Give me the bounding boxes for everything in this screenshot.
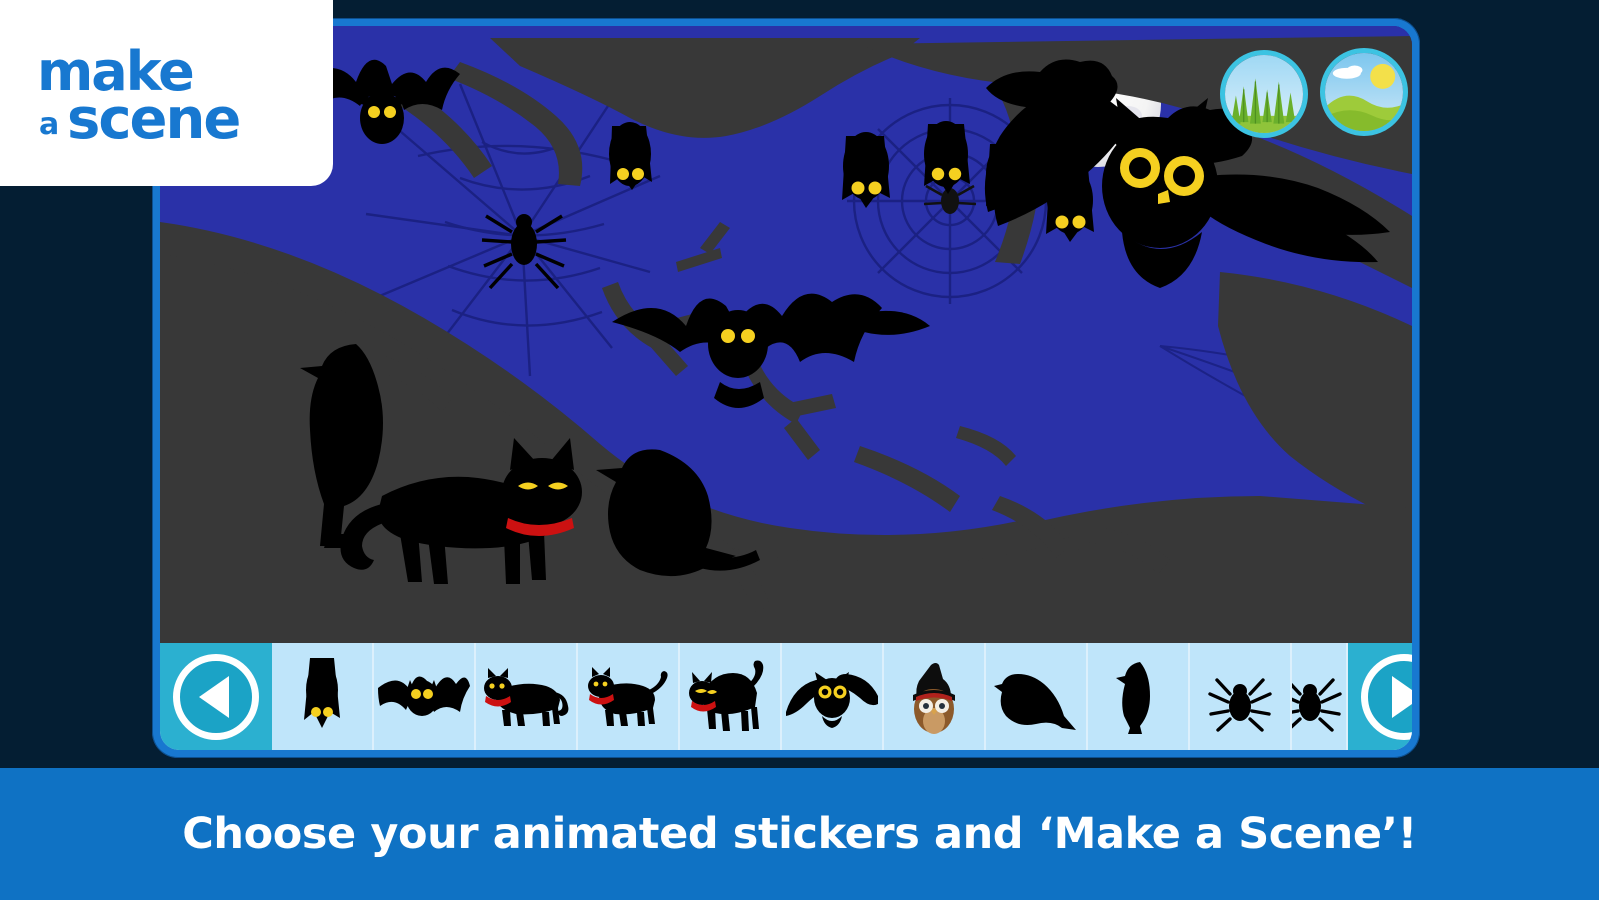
app-root: make a scene Choose your animated sticke…: [0, 0, 1599, 900]
svg-text:scene: scene: [67, 87, 239, 148]
sticker-spider-partial[interactable]: [1292, 643, 1348, 750]
sticker-standing-cat[interactable]: [578, 643, 680, 750]
flying-bat-icon: [376, 666, 472, 728]
prev-arrow-icon: [173, 654, 259, 740]
hanging-bat-icon: [294, 656, 350, 738]
scene-button-forest[interactable]: [1220, 50, 1308, 138]
sticker-witch-owl[interactable]: [884, 643, 986, 750]
sticker-arched-cat[interactable]: [680, 643, 782, 750]
sticker-flying-owl[interactable]: [782, 643, 884, 750]
sticker-tray[interactable]: [160, 643, 1412, 750]
next-stickers-button[interactable]: [1348, 643, 1412, 750]
crow-icon: [994, 662, 1078, 732]
spider-partial-icon: [1292, 662, 1345, 732]
raven-icon: [1116, 658, 1160, 736]
banner-text: Choose your animated stickers and ‘Make …: [182, 809, 1417, 859]
walking-cat-icon: [480, 666, 572, 728]
svg-text:a: a: [39, 107, 59, 142]
prev-stickers-button[interactable]: [160, 643, 272, 750]
next-arrow-icon: [1361, 654, 1412, 740]
logo-panel: make a scene: [0, 0, 333, 186]
scene-frame: [152, 18, 1420, 758]
sticker-walking-cat[interactable]: [476, 643, 578, 750]
sticker-raven[interactable]: [1088, 643, 1190, 750]
make-a-scene-logo: make a scene: [33, 38, 301, 148]
flying-owl-icon: [784, 666, 880, 728]
scene-canvas[interactable]: [160, 26, 1412, 643]
scene-inner: [160, 26, 1412, 750]
sticker-spider[interactable]: [1190, 643, 1292, 750]
sticker-flying-bat[interactable]: [374, 643, 476, 750]
arched-cat-icon: [687, 659, 773, 735]
witch-owl-icon: [903, 659, 965, 735]
sticker-hanging-bat[interactable]: [272, 643, 374, 750]
standing-cat-icon: [585, 666, 671, 728]
spider-icon: [1205, 662, 1275, 732]
bottom-banner: Choose your animated stickers and ‘Make …: [0, 768, 1599, 900]
sticker-crow[interactable]: [986, 643, 1088, 750]
scene-button-hills[interactable]: [1320, 48, 1408, 136]
